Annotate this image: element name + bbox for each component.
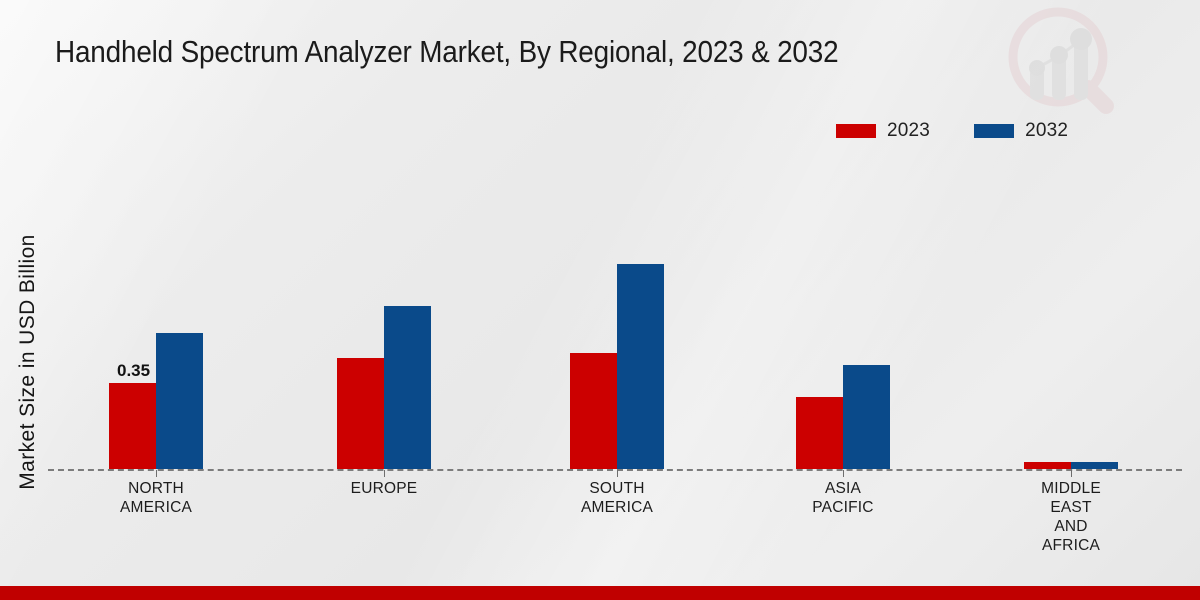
x-axis-label-europe: EUROPE xyxy=(294,479,474,498)
plot-area: 0.35NORTHAMERICAEUROPESOUTHAMERICAASIAPA… xyxy=(0,0,1200,600)
legend-swatch-2032 xyxy=(974,124,1014,138)
x-axis-label-south-america: SOUTHAMERICA xyxy=(527,479,707,517)
bar-value-label: 0.35 xyxy=(117,361,150,381)
legend-item-2023[interactable]: 2023 xyxy=(836,120,930,142)
footer-accent-bar xyxy=(0,586,1200,600)
x-axis-tick xyxy=(843,470,844,477)
bar-2032-north-america[interactable] xyxy=(156,333,203,469)
bar-2032-south-america[interactable] xyxy=(617,264,664,469)
y-axis-title: Market Size in USD Billion xyxy=(16,192,40,532)
x-axis-label-asia-pacific: ASIAPACIFIC xyxy=(753,479,933,517)
x-axis-tick xyxy=(384,470,385,477)
chart-canvas: Handheld Spectrum Analyzer Market, By Re… xyxy=(0,0,1200,600)
bar-2032-asia-pacific[interactable] xyxy=(843,365,890,469)
bar-2023-europe[interactable] xyxy=(337,358,384,469)
bar-2032-middle-east-and-africa[interactable] xyxy=(1071,462,1118,469)
x-axis-baseline xyxy=(48,469,1182,471)
x-axis-tick xyxy=(156,470,157,477)
chart-legend: 2023 2032 xyxy=(836,120,1068,142)
legend-item-2032[interactable]: 2032 xyxy=(974,120,1068,142)
bar-2023-north-america[interactable] xyxy=(109,383,156,469)
background-sheen xyxy=(0,0,1200,600)
bar-2023-south-america[interactable] xyxy=(570,353,617,469)
bar-2032-europe[interactable] xyxy=(384,306,431,469)
legend-label-2032: 2032 xyxy=(1025,120,1068,142)
x-axis-tick xyxy=(1071,470,1072,477)
bar-2023-asia-pacific[interactable] xyxy=(796,397,843,469)
bar-2023-middle-east-and-africa[interactable] xyxy=(1024,462,1071,469)
chart-title: Handheld Spectrum Analyzer Market, By Re… xyxy=(55,30,955,74)
x-axis-tick xyxy=(617,470,618,477)
x-axis-label-middle-east-and-africa: MIDDLEEASTANDAFRICA xyxy=(981,479,1161,555)
x-axis-label-north-america: NORTHAMERICA xyxy=(66,479,246,517)
market-research-magnifier-logo-icon xyxy=(1002,2,1142,124)
legend-swatch-2023 xyxy=(836,124,876,138)
legend-label-2023: 2023 xyxy=(887,120,930,142)
